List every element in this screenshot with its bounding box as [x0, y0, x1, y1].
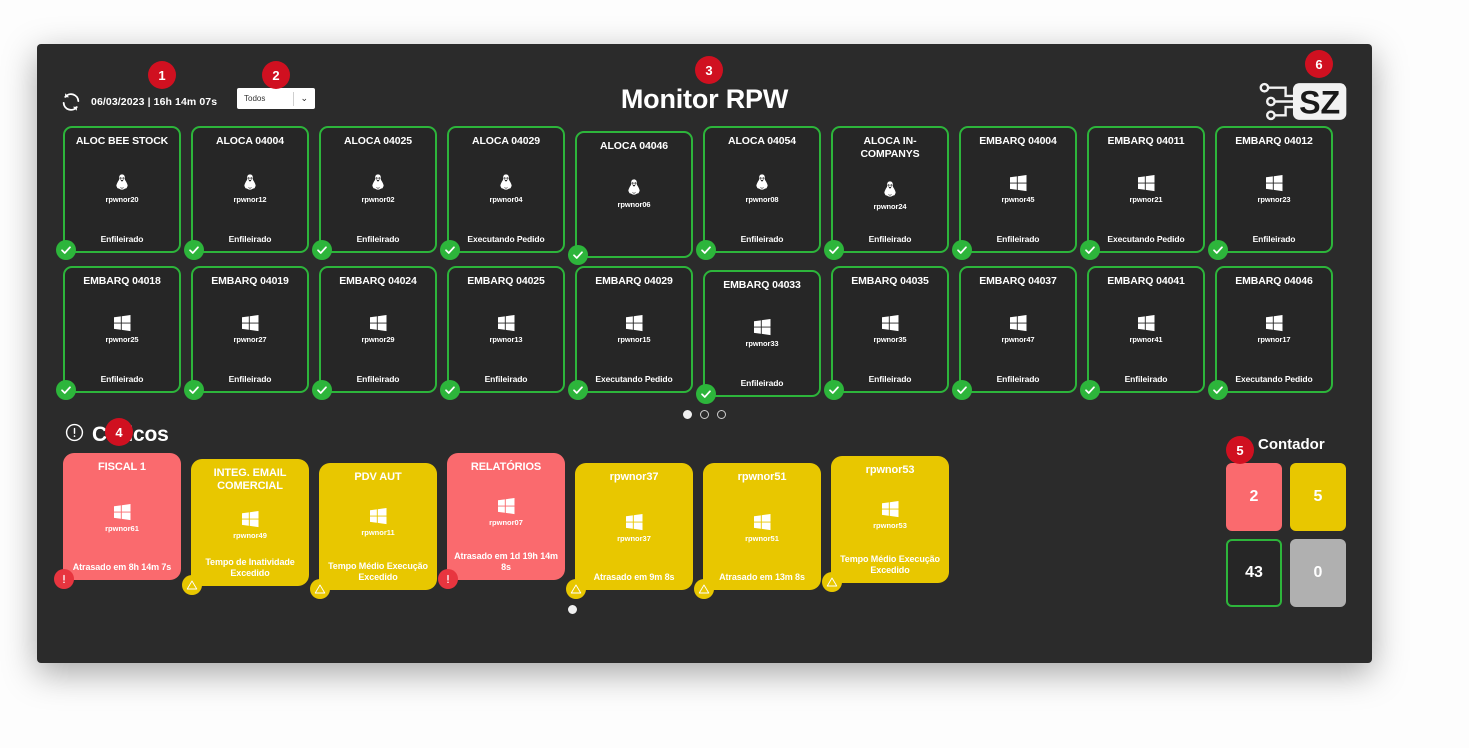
- robot-status-text: Enfileirado: [197, 234, 303, 245]
- robot-hostname: rpwnor02: [362, 195, 395, 204]
- criticos-header: Críticos: [65, 423, 1372, 447]
- robot-card[interactable]: ALOCA IN-COMPANYSrpwnor24Enfileirado: [831, 126, 949, 253]
- contador-box-red[interactable]: 2: [1226, 463, 1282, 531]
- robot-card-body: rpwnor24: [837, 157, 943, 234]
- windows-icon: [496, 496, 516, 516]
- robot-card-grid: ALOC BEE STOCKrpwnor20EnfileiradoALOCA 0…: [37, 126, 1372, 423]
- severity-badge: [822, 572, 842, 592]
- status-badge-ok: [696, 240, 716, 260]
- robot-card-body: rpwnor08: [709, 144, 815, 234]
- status-badge-ok: [952, 380, 972, 400]
- check-icon: [700, 244, 712, 256]
- robot-status-text: Executando Pedido: [581, 374, 687, 385]
- robot-card[interactable]: ALOCA 04046rpwnor06: [575, 131, 693, 258]
- contador-box-yellow[interactable]: 5: [1290, 463, 1346, 531]
- robot-card[interactable]: EMBARQ 04033rpwnor33Enfileirado: [703, 270, 821, 397]
- status-badge-ok: [568, 380, 588, 400]
- check-icon: [188, 244, 200, 256]
- critical-card-body: rpwnor61: [68, 472, 176, 562]
- windows-icon: [368, 506, 388, 526]
- linux-icon: [752, 173, 772, 193]
- windows-icon: [240, 509, 260, 529]
- robot-status-text: Enfileirado: [69, 374, 175, 385]
- status-badge-ok: [696, 384, 716, 404]
- windows-icon: [1264, 313, 1284, 333]
- check-icon: [316, 384, 328, 396]
- robot-card-body: rpwnor27: [197, 284, 303, 374]
- critical-card-body: rpwnor37: [580, 482, 688, 572]
- status-badge-ok: [56, 240, 76, 260]
- status-badge-ok: [440, 240, 460, 260]
- status-badge-ok: [440, 380, 460, 400]
- pagination-dot[interactable]: [683, 410, 692, 419]
- windows-icon: [752, 317, 772, 337]
- robot-card-row: ALOC BEE STOCKrpwnor20EnfileiradoALOCA 0…: [63, 126, 1346, 258]
- warning-triangle-icon: [570, 583, 582, 595]
- windows-icon: [112, 313, 132, 333]
- robot-card[interactable]: EMBARQ 04025rpwnor13Enfileirado: [447, 266, 565, 393]
- windows-icon: [1136, 173, 1156, 193]
- robot-hostname: rpwnor12: [234, 195, 267, 204]
- check-icon: [828, 244, 840, 256]
- critical-card[interactable]: RELATÓRIOSrpwnor07Atrasado em 1d 19h 14m…: [447, 453, 565, 580]
- critical-card[interactable]: rpwnor51rpwnor51Atrasado em 13m 8s: [703, 463, 821, 590]
- robot-hostname: rpwnor21: [1130, 195, 1163, 204]
- robot-card[interactable]: EMBARQ 04012rpwnor23Enfileirado: [1215, 126, 1333, 253]
- check-icon: [1084, 244, 1096, 256]
- critical-hostname: rpwnor49: [233, 531, 267, 540]
- critical-status-text: Atrasado em 8h 14m 7s: [68, 562, 176, 573]
- windows-icon: [496, 313, 516, 333]
- robot-hostname: rpwnor17: [1258, 335, 1291, 344]
- robot-card[interactable]: EMBARQ 04041rpwnor41Enfileirado: [1087, 266, 1205, 393]
- robot-card-body: rpwnor23: [1221, 144, 1327, 234]
- criticos-pagination[interactable]: [37, 600, 1107, 618]
- windows-icon: [240, 509, 260, 529]
- check-icon: [444, 244, 456, 256]
- check-icon: [444, 384, 456, 396]
- windows-icon: [624, 313, 644, 333]
- critical-hostname: rpwnor51: [745, 534, 779, 543]
- robot-card[interactable]: ALOC BEE STOCKrpwnor20Enfileirado: [63, 126, 181, 253]
- check-icon: [60, 384, 72, 396]
- linux-icon: [240, 173, 260, 193]
- check-icon: [956, 384, 968, 396]
- robot-hostname: rpwnor13: [490, 335, 523, 344]
- windows-icon: [368, 313, 388, 333]
- windows-icon: [880, 499, 900, 519]
- status-badge-ok: [56, 380, 76, 400]
- robot-card[interactable]: EMBARQ 04029rpwnor15Executando Pedido: [575, 266, 693, 393]
- robot-status-text: Enfileirado: [965, 374, 1071, 385]
- windows-icon: [752, 512, 772, 532]
- check-icon: [1212, 384, 1224, 396]
- critical-status-text: Atrasado em 1d 19h 14m 8s: [452, 551, 560, 573]
- windows-icon: [1136, 313, 1156, 333]
- critical-card-body: rpwnor49: [196, 491, 304, 557]
- annotation-badge-2: 2: [262, 61, 290, 89]
- robot-card-body: rpwnor33: [709, 288, 815, 378]
- linux-icon: [752, 173, 772, 193]
- check-icon: [956, 244, 968, 256]
- check-icon: [572, 249, 584, 261]
- linux-icon: [880, 180, 900, 200]
- robot-card[interactable]: EMBARQ 04024rpwnor29Enfileirado: [319, 266, 437, 393]
- windows-icon: [112, 502, 132, 522]
- robot-hostname: rpwnor04: [490, 195, 523, 204]
- severity-badge: [54, 569, 74, 589]
- robot-card-body: rpwnor15: [581, 284, 687, 374]
- robot-card-body: rpwnor41: [1093, 284, 1199, 374]
- robot-card-body: rpwnor02: [325, 144, 431, 234]
- check-icon: [828, 384, 840, 396]
- contador-title: Contador: [1258, 436, 1325, 453]
- check-icon: [700, 388, 712, 400]
- robot-status-text: Enfileirado: [325, 234, 431, 245]
- robot-card-body: rpwnor06: [581, 149, 687, 239]
- robot-status-text: Enfileirado: [325, 374, 431, 385]
- status-badge-ok: [1208, 380, 1228, 400]
- robot-card[interactable]: EMBARQ 04035rpwnor35Enfileirado: [831, 266, 949, 393]
- linux-icon: [112, 173, 132, 193]
- windows-icon: [112, 313, 132, 333]
- robot-status-text: Enfileirado: [709, 378, 815, 389]
- severity-badge: [438, 569, 458, 589]
- robot-card-body: rpwnor25: [69, 284, 175, 374]
- windows-icon: [112, 502, 132, 522]
- robot-card[interactable]: EMBARQ 04018rpwnor25Enfileirado: [63, 266, 181, 393]
- critical-status-text: Atrasado em 9m 8s: [580, 572, 688, 583]
- robot-status-text: Executando Pedido: [1093, 234, 1199, 245]
- robot-hostname: rpwnor33: [746, 339, 779, 348]
- robot-status-text: Enfileirado: [709, 234, 815, 245]
- robot-status-text: Enfileirado: [837, 374, 943, 385]
- robot-hostname: rpwnor47: [1002, 335, 1035, 344]
- windows-icon: [240, 313, 260, 333]
- robot-hostname: rpwnor41: [1130, 335, 1163, 344]
- linux-icon: [496, 173, 516, 193]
- windows-icon: [880, 313, 900, 333]
- windows-icon: [496, 313, 516, 333]
- robot-hostname: rpwnor25: [106, 335, 139, 344]
- critical-status-text: Tempo Médio Execução Excedido: [324, 561, 432, 583]
- warning-triangle-icon: [826, 576, 838, 588]
- robot-card-row: EMBARQ 04018rpwnor25EnfileiradoEMBARQ 04…: [63, 266, 1346, 397]
- robot-hostname: rpwnor29: [362, 335, 395, 344]
- robot-card-body: rpwnor12: [197, 144, 303, 234]
- robot-card-body: rpwnor29: [325, 284, 431, 374]
- critical-card[interactable]: rpwnor37rpwnor37Atrasado em 9m 8s: [575, 463, 693, 590]
- robot-hostname: rpwnor45: [1002, 195, 1035, 204]
- check-icon: [316, 244, 328, 256]
- robot-hostname: rpwnor27: [234, 335, 267, 344]
- windows-icon: [880, 313, 900, 333]
- windows-icon: [368, 506, 388, 526]
- robot-card[interactable]: EMBARQ 04011rpwnor21Executando Pedido: [1087, 126, 1205, 253]
- windows-icon: [1008, 173, 1028, 193]
- robot-card[interactable]: ALOCA 04054rpwnor08Enfileirado: [703, 126, 821, 253]
- windows-icon: [1264, 173, 1284, 193]
- critical-card-body: rpwnor11: [324, 482, 432, 561]
- robot-card[interactable]: ALOCA 04029rpwnor04Executando Pedido: [447, 126, 565, 253]
- status-badge-ok: [312, 380, 332, 400]
- linux-icon: [624, 178, 644, 198]
- contador-box-green[interactable]: 43: [1226, 539, 1282, 607]
- windows-icon: [1008, 313, 1028, 333]
- robot-card-body: rpwnor20: [69, 144, 175, 234]
- robot-card-body: rpwnor35: [837, 284, 943, 374]
- robot-status-text: [581, 239, 687, 250]
- windows-icon: [240, 313, 260, 333]
- windows-icon: [1136, 313, 1156, 333]
- windows-icon: [1264, 313, 1284, 333]
- contador-box-gray[interactable]: 0: [1290, 539, 1346, 607]
- grid-pagination[interactable]: [63, 405, 1346, 423]
- linux-icon: [880, 180, 900, 200]
- critical-hostname: rpwnor61: [105, 524, 139, 533]
- warning-triangle-icon: [186, 579, 198, 591]
- critical-hostname: rpwnor11: [361, 528, 394, 537]
- severity-badge: [182, 575, 202, 595]
- robot-hostname: rpwnor24: [874, 202, 907, 211]
- check-icon: [1084, 384, 1096, 396]
- linux-icon: [240, 173, 260, 193]
- linux-icon: [368, 173, 388, 193]
- robot-card[interactable]: EMBARQ 04004rpwnor45Enfileirado: [959, 126, 1077, 253]
- robot-status-text: Enfileirado: [1093, 374, 1199, 385]
- screenshot-root: 06/03/2023 | 16h 14m 07s Todos ⌄ Monitor…: [0, 0, 1469, 748]
- annotation-badge-6: 6: [1305, 50, 1333, 78]
- check-icon: [188, 384, 200, 396]
- robot-card-body: rpwnor45: [965, 144, 1071, 234]
- critical-card-body: rpwnor51: [708, 482, 816, 572]
- linux-icon: [368, 173, 388, 193]
- exclamation-icon: [58, 573, 70, 585]
- critical-card[interactable]: PDV AUTrpwnor11Tempo Médio Execução Exce…: [319, 463, 437, 590]
- linux-icon: [496, 173, 516, 193]
- robot-status-text: Executando Pedido: [1221, 374, 1327, 385]
- severity-badge: [694, 579, 714, 599]
- robot-status-text: Executando Pedido: [453, 234, 559, 245]
- pagination-dot[interactable]: [568, 605, 577, 614]
- windows-icon: [624, 512, 644, 532]
- check-icon: [572, 384, 584, 396]
- robot-hostname: rpwnor15: [618, 335, 651, 344]
- check-icon: [1212, 244, 1224, 256]
- robot-card[interactable]: ALOCA 04004rpwnor12Enfileirado: [191, 126, 309, 253]
- page-title: Monitor RPW: [37, 84, 1372, 115]
- sz-logo: SZ: [1258, 79, 1350, 124]
- windows-icon: [624, 313, 644, 333]
- critical-card-body: rpwnor07: [452, 472, 560, 551]
- check-icon: [60, 244, 72, 256]
- annotation-badge-4: 4: [105, 418, 133, 446]
- annotation-badge-5: 5: [1226, 436, 1254, 464]
- annotation-badge-1: 1: [148, 61, 176, 89]
- windows-icon: [496, 496, 516, 516]
- critical-status-text: Tempo de Inatividade Excedido: [196, 557, 304, 579]
- windows-icon: [1136, 173, 1156, 193]
- status-badge-ok: [184, 380, 204, 400]
- alert-circle-icon: [65, 423, 84, 447]
- critical-hostname: rpwnor07: [489, 518, 523, 527]
- critical-status-text: Tempo Médio Execução Excedido: [836, 554, 944, 576]
- critical-hostname: rpwnor53: [873, 521, 907, 530]
- critical-card[interactable]: FISCAL 1rpwnor61Atrasado em 8h 14m 7s: [63, 453, 181, 580]
- windows-icon: [752, 512, 772, 532]
- status-badge-ok: [568, 245, 588, 265]
- critical-card[interactable]: INTEG. EMAIL COMERCIALrpwnor49Tempo de I…: [191, 459, 309, 586]
- robot-card-body: rpwnor17: [1221, 284, 1327, 374]
- robot-status-text: Enfileirado: [453, 374, 559, 385]
- critical-card-body: rpwnor53: [836, 475, 944, 554]
- robot-status-text: Enfileirado: [69, 234, 175, 245]
- robot-card[interactable]: EMBARQ 04046rpwnor17Executando Pedido: [1215, 266, 1333, 393]
- robot-status-text: Enfileirado: [1221, 234, 1327, 245]
- annotation-badge-3: 3: [695, 56, 723, 84]
- robot-card-body: rpwnor47: [965, 284, 1071, 374]
- status-badge-ok: [1080, 240, 1100, 260]
- robot-hostname: rpwnor06: [618, 200, 651, 209]
- severity-badge: [566, 579, 586, 599]
- robot-status-text: Enfileirado: [837, 234, 943, 245]
- status-badge-ok: [952, 240, 972, 260]
- status-badge-ok: [1208, 240, 1228, 260]
- robot-card-body: rpwnor04: [453, 144, 559, 234]
- severity-badge: [310, 579, 330, 599]
- windows-icon: [880, 499, 900, 519]
- status-badge-ok: [1080, 380, 1100, 400]
- windows-icon: [624, 512, 644, 532]
- pagination-dot[interactable]: [700, 410, 709, 419]
- pagination-dot[interactable]: [717, 410, 726, 419]
- windows-icon: [1264, 173, 1284, 193]
- critical-status-text: Atrasado em 13m 8s: [708, 572, 816, 583]
- critical-card-title: INTEG. EMAIL COMERCIAL: [196, 467, 304, 493]
- robot-card-body: rpwnor21: [1093, 144, 1199, 234]
- status-badge-ok: [184, 240, 204, 260]
- warning-triangle-icon: [698, 583, 710, 595]
- status-badge-ok: [824, 380, 844, 400]
- robot-status-text: Enfileirado: [965, 234, 1071, 245]
- criticos-card-row: FISCAL 1rpwnor61Atrasado em 8h 14m 7sINT…: [37, 453, 1372, 590]
- status-badge-ok: [312, 240, 332, 260]
- robot-card-body: rpwnor13: [453, 284, 559, 374]
- windows-icon: [1008, 313, 1028, 333]
- critical-hostname: rpwnor37: [617, 534, 651, 543]
- robot-hostname: rpwnor20: [106, 195, 139, 204]
- windows-icon: [752, 317, 772, 337]
- status-badge-ok: [824, 240, 844, 260]
- windows-icon: [368, 313, 388, 333]
- robot-card[interactable]: ALOCA 04025rpwnor02Enfileirado: [319, 126, 437, 253]
- windows-icon: [1008, 173, 1028, 193]
- linux-icon: [624, 178, 644, 198]
- robot-hostname: rpwnor23: [1258, 195, 1291, 204]
- robot-status-text: Enfileirado: [197, 374, 303, 385]
- robot-hostname: rpwnor08: [746, 195, 779, 204]
- linux-icon: [112, 173, 132, 193]
- robot-card[interactable]: EMBARQ 04019rpwnor27Enfileirado: [191, 266, 309, 393]
- robot-card[interactable]: EMBARQ 04037rpwnor47Enfileirado: [959, 266, 1077, 393]
- critical-card[interactable]: rpwnor53rpwnor53Tempo Médio Execução Exc…: [831, 456, 949, 583]
- robot-hostname: rpwnor35: [874, 335, 907, 344]
- warning-triangle-icon: [314, 583, 326, 595]
- svg-text:SZ: SZ: [1299, 84, 1340, 120]
- exclamation-icon: [442, 573, 454, 585]
- monitor-dashboard-window: 06/03/2023 | 16h 14m 07s Todos ⌄ Monitor…: [37, 44, 1372, 663]
